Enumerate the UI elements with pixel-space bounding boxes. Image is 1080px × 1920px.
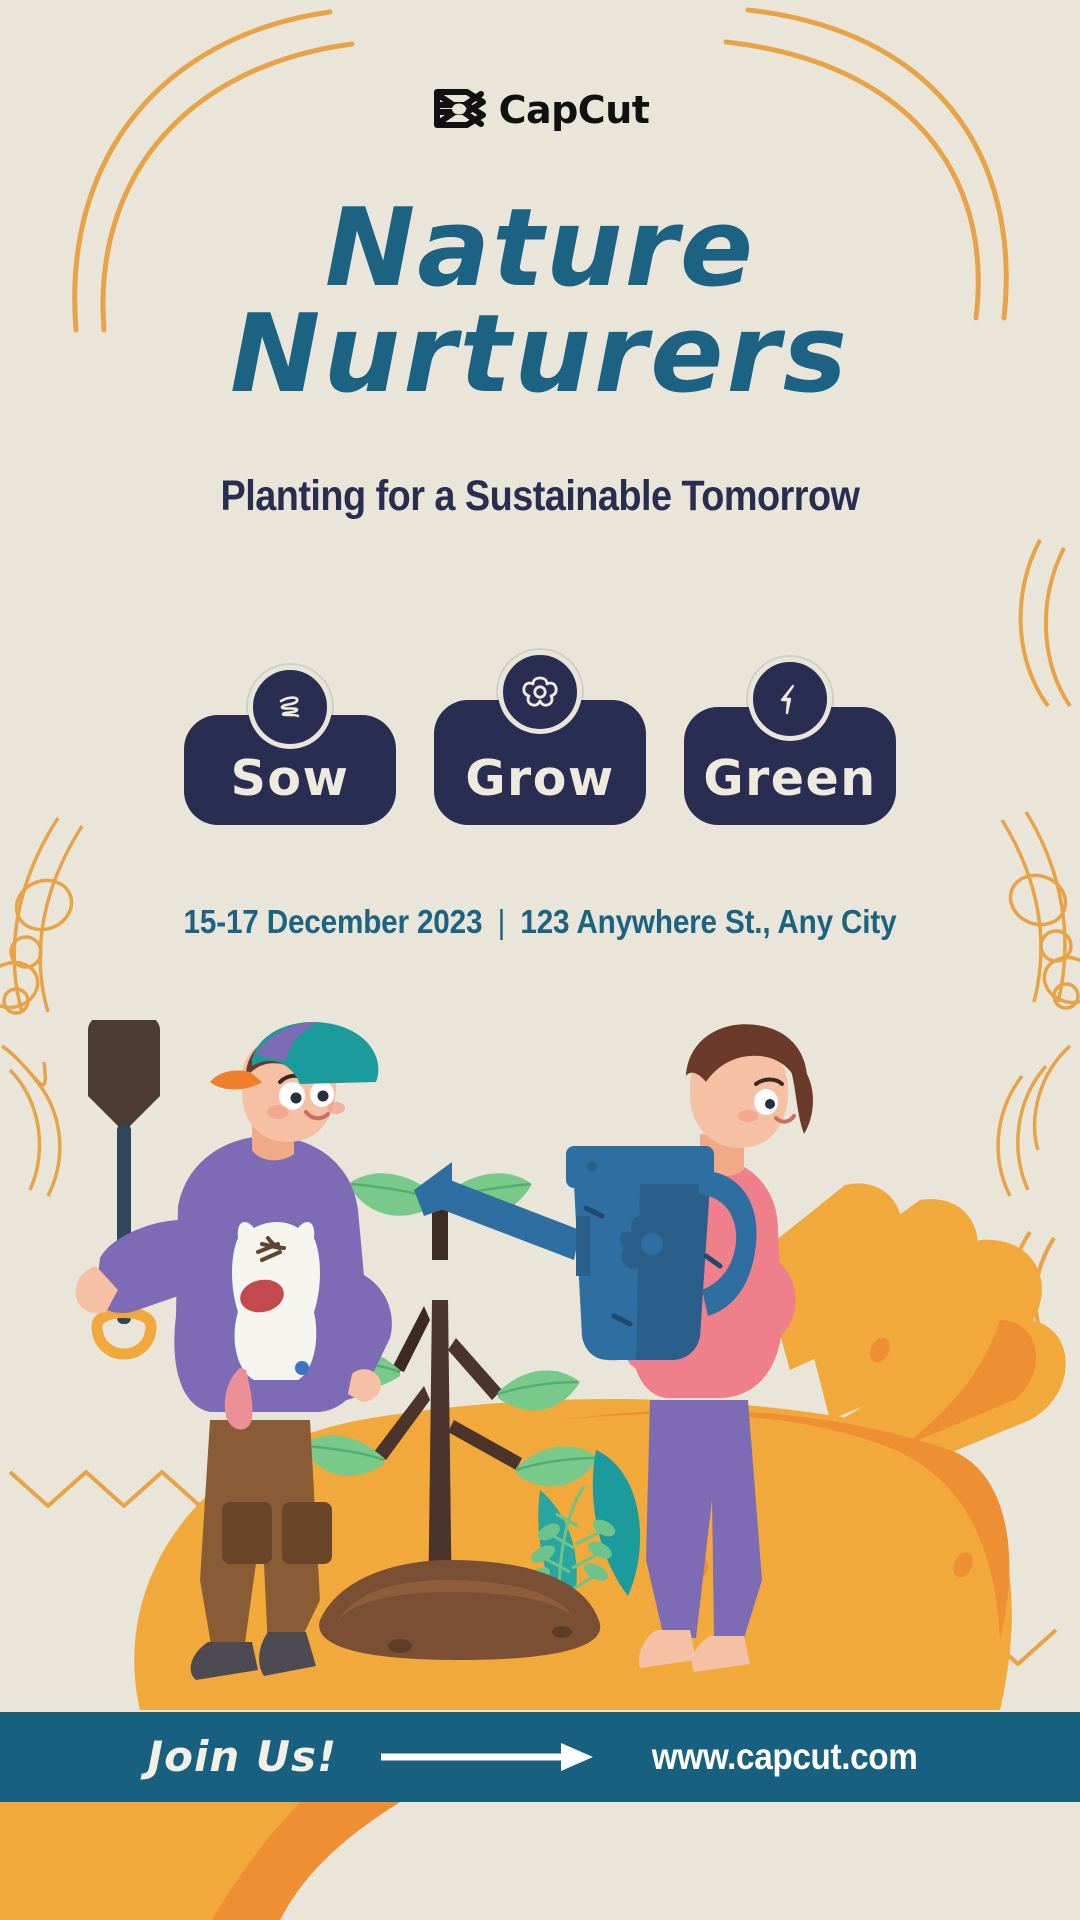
capcut-logo-text: CapCut: [499, 91, 650, 129]
bottom-accent-strip: [0, 1802, 1080, 1920]
arrow-right-icon: [377, 1739, 597, 1775]
squiggle-icon: [270, 687, 310, 727]
event-details: 15-17 December 2023 | 123 Anywhere St., …: [54, 903, 1026, 941]
website-url[interactable]: www.capcut.com: [652, 1736, 918, 1778]
topic-pill-group: Sow Grow Gr: [0, 650, 1080, 825]
poster-canvas: CapCut Nature Nurturers Planting for a S…: [0, 0, 1080, 1920]
sow-badge: [248, 665, 332, 749]
footer-bar: Join Us! www.capcut.com: [0, 1712, 1080, 1802]
grow-pill-label: Grow: [465, 754, 614, 803]
event-address: 123 Anywhere St., Any City: [520, 903, 896, 940]
planting-illustration: [0, 1020, 1080, 1710]
capcut-logo[interactable]: CapCut: [0, 88, 1080, 130]
page-title: Nature Nurturers: [0, 196, 1080, 408]
topic-pill-green[interactable]: Green: [684, 657, 896, 825]
sow-pill-label: Sow: [231, 754, 350, 803]
event-separator: |: [490, 903, 512, 940]
topic-pill-sow[interactable]: Sow: [184, 665, 396, 825]
bottom-accent-svg: [0, 1802, 1080, 1920]
flower-icon: [519, 671, 561, 713]
title-line-2: Nurturers: [0, 302, 1080, 408]
page-subtitle: Planting for a Sustainable Tomorrow: [65, 472, 1015, 521]
event-dates: 15-17 December 2023: [184, 903, 483, 940]
green-badge: [748, 657, 832, 741]
topic-pill-grow[interactable]: Grow: [434, 650, 646, 825]
illustration-svg: [0, 1020, 1080, 1720]
capcut-bowtie-icon: [431, 88, 489, 130]
green-pill-label: Green: [703, 754, 876, 803]
small-circles-left: [4, 937, 41, 1013]
lightning-bolt-icon: [771, 679, 809, 719]
grow-badge: [498, 650, 582, 734]
join-us-label: Join Us!: [148, 1736, 338, 1778]
